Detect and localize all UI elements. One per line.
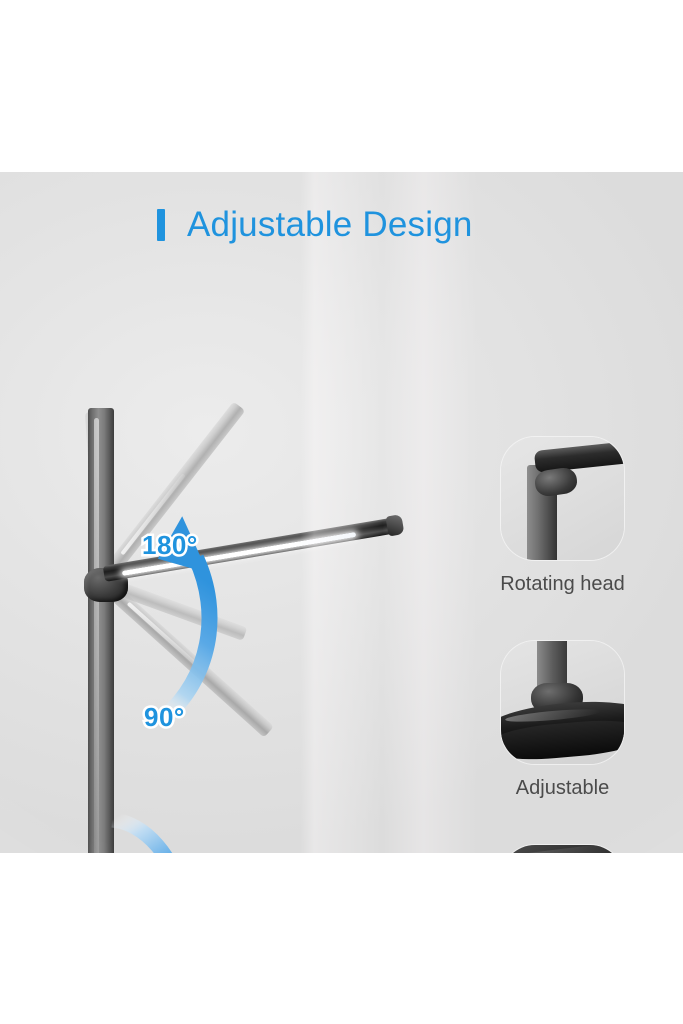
feature-rotating-head[interactable]: Rotating head: [455, 437, 670, 596]
infographic-panel: 180° 90°: [0, 172, 683, 853]
feature-adjustable[interactable]: Adjustable: [455, 641, 670, 800]
feature-label-adjustable: Adjustable: [516, 777, 609, 800]
lamp-illustration: 180° 90°: [0, 172, 430, 853]
feature-list: Rotating head Adjustable ☰: [455, 437, 670, 853]
title-accent-bar: [157, 209, 165, 241]
adjustable-thumbnail[interactable]: [501, 641, 624, 764]
rotation-arrow-180-icon: [100, 472, 270, 732]
feature-label-rotating-head: Rotating head: [500, 573, 625, 596]
page-title: Adjustable Design: [187, 205, 473, 245]
lamp-post-highlight: [94, 418, 99, 853]
touch-control-thumbnail[interactable]: ☰ ▤ ■ ╱: [501, 845, 624, 853]
angle-label-180: 180°: [142, 530, 198, 561]
feature-easy-touch-control[interactable]: ☰ ▤ ■ ╱ Easy Touch Control: [455, 845, 670, 853]
rotation-arrow-90-icon: [108, 812, 248, 853]
page-title-row: Adjustable Design: [157, 205, 473, 245]
angle-label-90: 90°: [144, 702, 185, 733]
rotating-head-thumbnail[interactable]: [501, 437, 624, 560]
